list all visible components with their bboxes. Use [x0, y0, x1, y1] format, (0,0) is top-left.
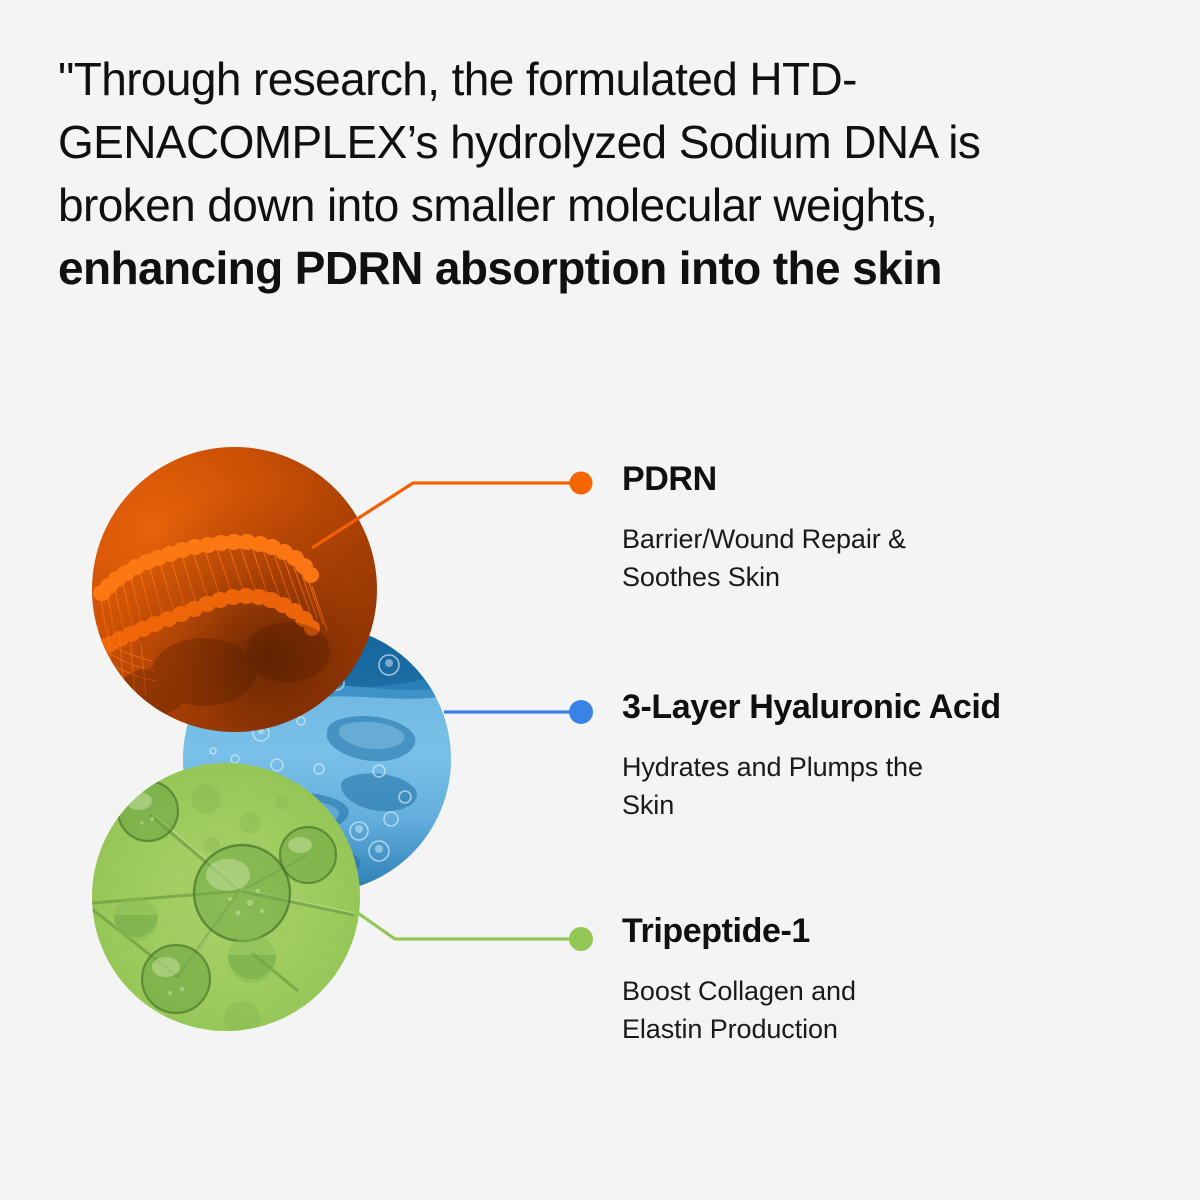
ingredient-title-pdrn: PDRN [622, 458, 906, 500]
ingredient-description-tripeptide-1: Boost Collagen and Elastin Production [622, 972, 856, 1048]
ingredient-description-pdrn-line-2: Soothes Skin [622, 562, 780, 592]
ingredient-label-pdrn: PDRN Barrier/Wound Repair & Soothes Skin [622, 458, 906, 596]
molecule-spheres-icon [92, 763, 360, 1031]
headline-line-1: "Through research, the formulated HTD- [58, 53, 857, 105]
ingredient-label-tripeptide-1: Tripeptide-1 Boost Collagen and Elastin … [622, 910, 856, 1048]
infographic-page: "Through research, the formulated HTD- G… [0, 0, 1200, 1200]
headline-line-4-emphasis: enhancing PDRN absorption into the skin [58, 242, 942, 294]
headline-line-3: broken down into smaller molecular weigh… [58, 179, 937, 231]
page-title: "Through research, the formulated HTD- G… [58, 48, 1148, 300]
connector-line-tripeptide-1 [355, 911, 574, 939]
ingredient-title-tripeptide-1: Tripeptide-1 [622, 910, 856, 952]
ingredient-description-tripeptide-1-line-2: Elastin Production [622, 1014, 838, 1044]
ingredient-label-hyaluronic-acid: 3-Layer Hyaluronic Acid Hydrates and Plu… [622, 686, 1001, 824]
ingredient-image-pdrn [92, 447, 377, 732]
ingredient-description-hyaluronic-acid-line-2: Skin [622, 790, 674, 820]
connector-dot-hyaluronic-acid [569, 700, 593, 724]
headline-line-2: GENACOMPLEX’s hydrolyzed Sodium DNA is [58, 116, 980, 168]
ingredient-title-hyaluronic-acid: 3-Layer Hyaluronic Acid [622, 686, 1001, 728]
ingredient-description-hyaluronic-acid: Hydrates and Plumps the Skin [622, 748, 1001, 824]
ingredient-description-tripeptide-1-line-1: Boost Collagen and [622, 976, 856, 1006]
ingredient-description-pdrn-line-1: Barrier/Wound Repair & [622, 524, 906, 554]
connector-dot-pdrn [570, 472, 593, 495]
dna-double-helix-icon [92, 447, 377, 732]
ingredient-image-tripeptide-1 [92, 763, 360, 1031]
ingredient-description-pdrn: Barrier/Wound Repair & Soothes Skin [622, 520, 906, 596]
ingredient-description-hyaluronic-acid-line-1: Hydrates and Plumps the [622, 752, 923, 782]
connector-dot-tripeptide-1 [569, 927, 593, 951]
